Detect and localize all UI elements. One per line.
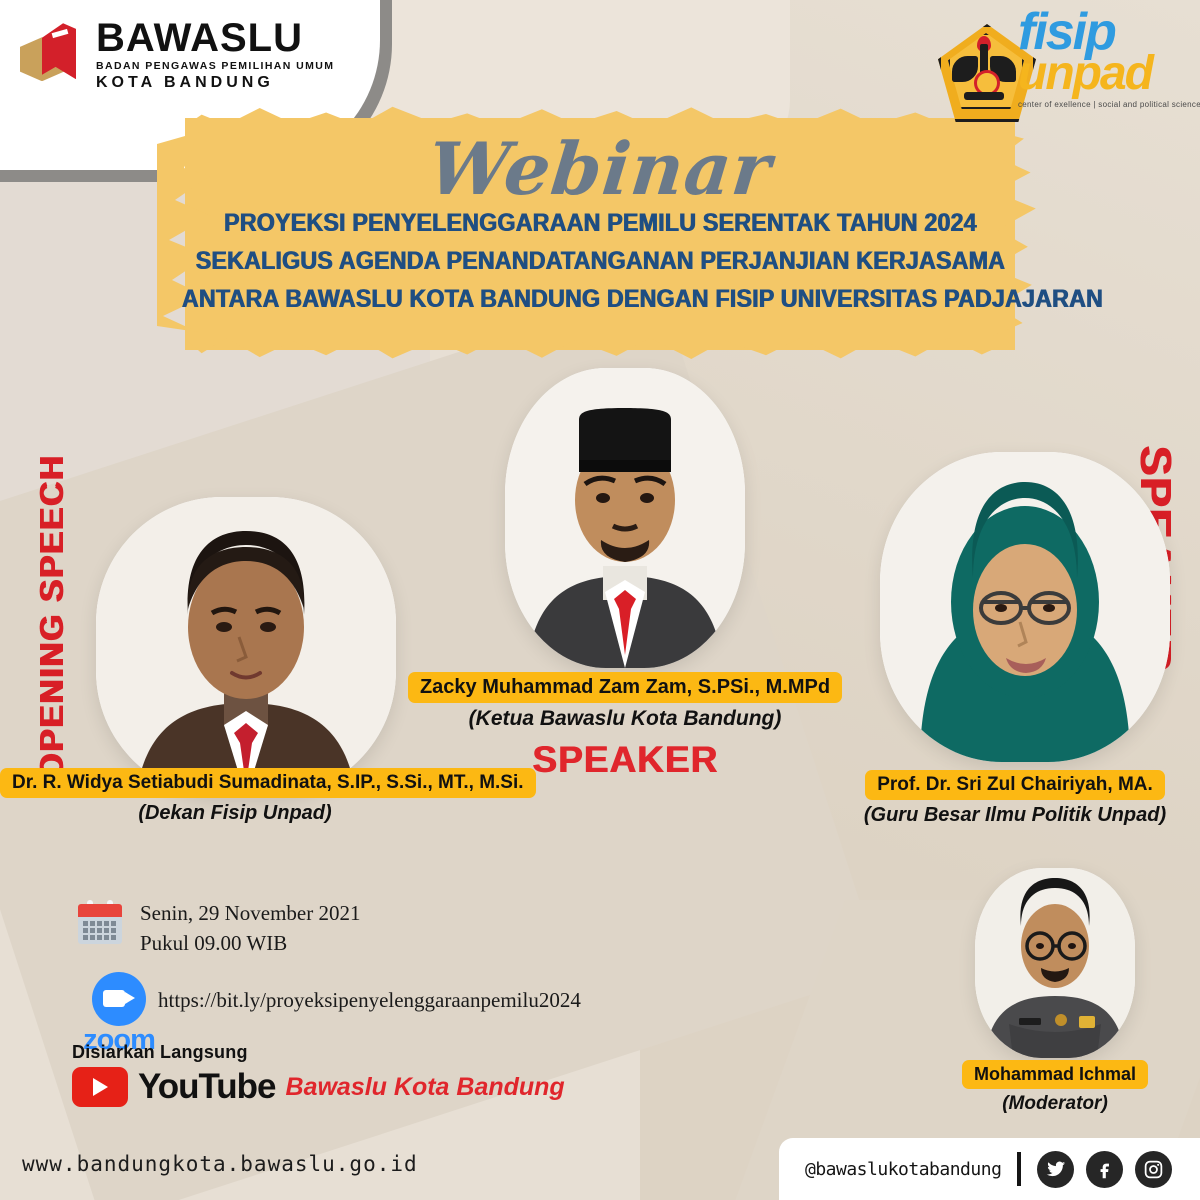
fisip-tagline: center of exellence | social and politic… <box>1018 100 1193 109</box>
portrait-left-opening-speaker <box>96 497 396 797</box>
website-url[interactable]: www.bandungkota.bawaslu.go.id <box>22 1152 418 1176</box>
portrait-center-speaker <box>505 368 745 668</box>
instagram-icon[interactable] <box>1135 1151 1172 1188</box>
right-speaker-badge: Prof. Dr. Sri Zul Chairiyah, MA. (Guru B… <box>830 770 1200 827</box>
moderator-role: (Moderator) <box>940 1093 1170 1115</box>
zoom-camera-icon <box>92 972 146 1026</box>
opening-speech-label: OPENING SPEECH <box>33 455 71 780</box>
youtube-play-icon <box>72 1067 128 1107</box>
hero-title-line-2: SEKALIGUS AGENDA PENANDATANGANAN PERJANJ… <box>182 242 1019 280</box>
unpad-seal-icon <box>938 24 1030 116</box>
livestream-block: Disiarkan Langsung YouTube Bawaslu Kota … <box>72 1042 565 1107</box>
fisip-unpad-logo: fisip unpad center of exellence | social… <box>1018 8 1193 109</box>
left-speaker-role: (Dekan Fisip Unpad) <box>0 802 470 825</box>
event-date: Senin, 29 November 2021 <box>140 898 360 928</box>
center-speaker-badge: Zacky Muhammad Zam Zam, S.PSi., M.MPd (K… <box>385 672 865 781</box>
divider <box>1017 1152 1021 1186</box>
event-info-block: Senin, 29 November 2021 Pukul 09.00 WIB <box>78 898 698 958</box>
moderator-name: Mohammad Ichmal <box>962 1060 1148 1089</box>
right-speaker-name: Prof. Dr. Sri Zul Chairiyah, MA. <box>865 770 1165 800</box>
bawaslu-title: BAWASLU <box>96 18 334 58</box>
portrait-illustration <box>975 868 1135 1058</box>
portrait-illustration <box>880 452 1170 762</box>
moderator-badge: Mohammad Ichmal (Moderator) <box>940 1060 1170 1115</box>
bawaslu-subtitle-1: BADAN PENGAWAS PEMILIHAN UMUM <box>96 61 334 72</box>
center-speaker-name: Zacky Muhammad Zam Zam, S.PSi., M.MPd <box>408 672 842 703</box>
youtube-wordmark: YouTube <box>138 1067 276 1107</box>
social-media-panel: @bawaslukotabandung <box>779 1138 1200 1200</box>
portrait-illustration <box>505 368 745 668</box>
hero-title-line-1: PROYEKSI PENYELENGGARAAN PEMILU SERENTAK… <box>182 204 1019 242</box>
bawaslu-logo: BAWASLU BADAN PENGAWAS PEMILIHAN UMUM KO… <box>20 18 334 91</box>
twitter-icon[interactable] <box>1037 1151 1074 1188</box>
bawaslu-subtitle-2: KOTA BANDUNG <box>96 75 334 91</box>
livestream-label: Disiarkan Langsung <box>72 1042 565 1063</box>
zoom-meeting-link[interactable]: https://bit.ly/proyeksipenyelenggaraanpe… <box>158 988 581 1013</box>
right-speaker-role: (Guru Besar Ilmu Politik Unpad) <box>830 804 1200 827</box>
calendar-icon <box>78 900 122 944</box>
youtube-channel-name: Bawaslu Kota Bandung <box>286 1073 565 1102</box>
ballot-box-icon <box>20 23 82 85</box>
center-speaker-role: (Ketua Bawaslu Kota Bandung) <box>385 707 865 731</box>
portrait-illustration <box>96 497 396 797</box>
hero-title-block: PROYEKSI PENYELENGGARAAN PEMILU SERENTAK… <box>150 204 1050 318</box>
hero-title-line-3: ANTARA BAWASLU KOTA BANDUNG DENGAN FISIP… <box>182 280 1019 318</box>
portrait-moderator <box>975 868 1135 1058</box>
hero-script-title: Webinar <box>0 126 1200 211</box>
social-handle: @bawaslukotabandung <box>805 1159 1001 1180</box>
unpad-wordmark: unpad <box>1018 52 1193 96</box>
event-time: Pukul 09.00 WIB <box>140 928 360 958</box>
portrait-right-speaker <box>880 452 1170 762</box>
speaker-label-center: SPEAKER <box>385 739 865 781</box>
facebook-icon[interactable] <box>1086 1151 1123 1188</box>
webinar-poster: BAWASLU BADAN PENGAWAS PEMILIHAN UMUM KO… <box>0 0 1200 1200</box>
